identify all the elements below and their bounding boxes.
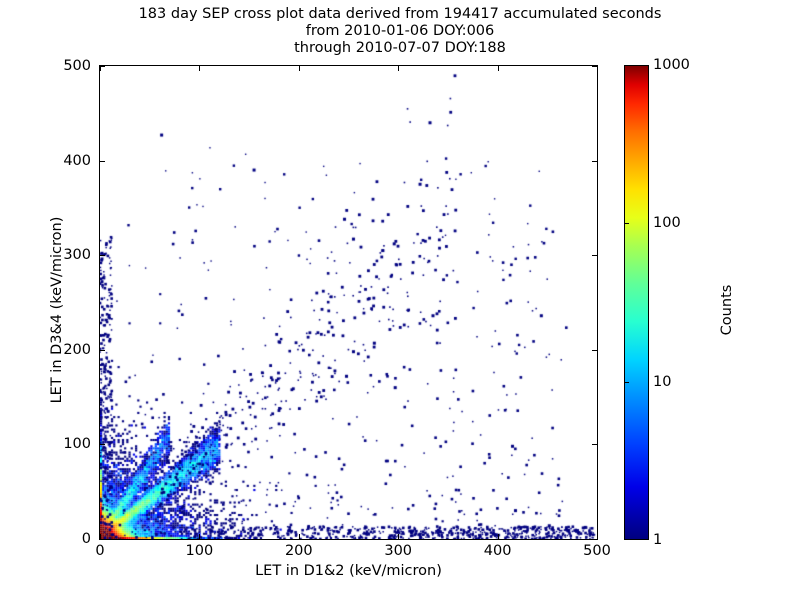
y-axis-tick-label: 100 xyxy=(41,436,91,452)
x-axis-tick-label: 400 xyxy=(484,543,512,559)
x-axis-tick xyxy=(398,534,399,539)
y-axis-tick-label: 400 xyxy=(41,153,91,169)
chart-title-line-3: through 2010-07-07 DOY:188 xyxy=(0,40,800,57)
chart-title-line-1: 183 day SEP cross plot data derived from… xyxy=(0,6,800,23)
x-axis-tick xyxy=(597,534,598,539)
x-axis-tick-label: 100 xyxy=(186,543,214,559)
x-axis-tick-top xyxy=(498,66,499,71)
colorbar-gradient[interactable] xyxy=(624,65,649,540)
colorbar-tick xyxy=(624,223,629,224)
y-axis-tick-right xyxy=(592,539,597,540)
scatter-plot-area[interactable] xyxy=(99,65,598,540)
scatter-data-layer xyxy=(100,66,597,539)
x-axis-tick-label: 0 xyxy=(95,543,104,559)
y-axis-tick-right xyxy=(592,161,597,162)
figure-canvas: 183 day SEP cross plot data derived from… xyxy=(0,0,800,600)
x-axis-tick xyxy=(498,534,499,539)
y-axis-tick-right xyxy=(592,444,597,445)
x-axis-tick-label: 500 xyxy=(583,543,611,559)
colorbar-tick-label: 10 xyxy=(653,374,671,390)
y-axis-tick-label: 200 xyxy=(41,342,91,358)
x-axis-tick xyxy=(299,534,300,539)
y-axis-tick xyxy=(100,161,105,162)
x-axis-label: LET in D1&2 (keV/micron) xyxy=(99,563,598,579)
y-axis-tick-label: 300 xyxy=(41,247,91,263)
x-axis-tick-top xyxy=(398,66,399,71)
y-axis-tick xyxy=(100,66,105,67)
x-axis-tick-top xyxy=(299,66,300,71)
colorbar-tick xyxy=(624,382,629,383)
colorbar-tick-label: 1 xyxy=(653,532,662,548)
chart-title: 183 day SEP cross plot data derived from… xyxy=(0,6,800,57)
y-axis-tick-right xyxy=(592,255,597,256)
colorbar-label: Counts xyxy=(719,210,735,410)
y-axis-tick-label: 500 xyxy=(41,58,91,74)
x-axis-tick-top xyxy=(199,66,200,71)
y-axis-tick xyxy=(100,350,105,351)
y-axis-tick-label: 0 xyxy=(41,531,91,547)
colorbar-tick-label: 1000 xyxy=(653,57,690,73)
y-axis-tick xyxy=(100,444,105,445)
y-axis-tick-right xyxy=(592,350,597,351)
x-axis-tick xyxy=(199,534,200,539)
x-axis-tick-label: 300 xyxy=(384,543,412,559)
y-axis-tick-right xyxy=(592,66,597,67)
chart-title-line-2: from 2010-01-06 DOY:006 xyxy=(0,23,800,40)
x-axis-tick-label: 200 xyxy=(285,543,313,559)
x-axis-tick-top xyxy=(597,66,598,71)
colorbar-tick-label: 100 xyxy=(653,215,681,231)
y-axis-tick xyxy=(100,539,105,540)
y-axis-tick xyxy=(100,255,105,256)
